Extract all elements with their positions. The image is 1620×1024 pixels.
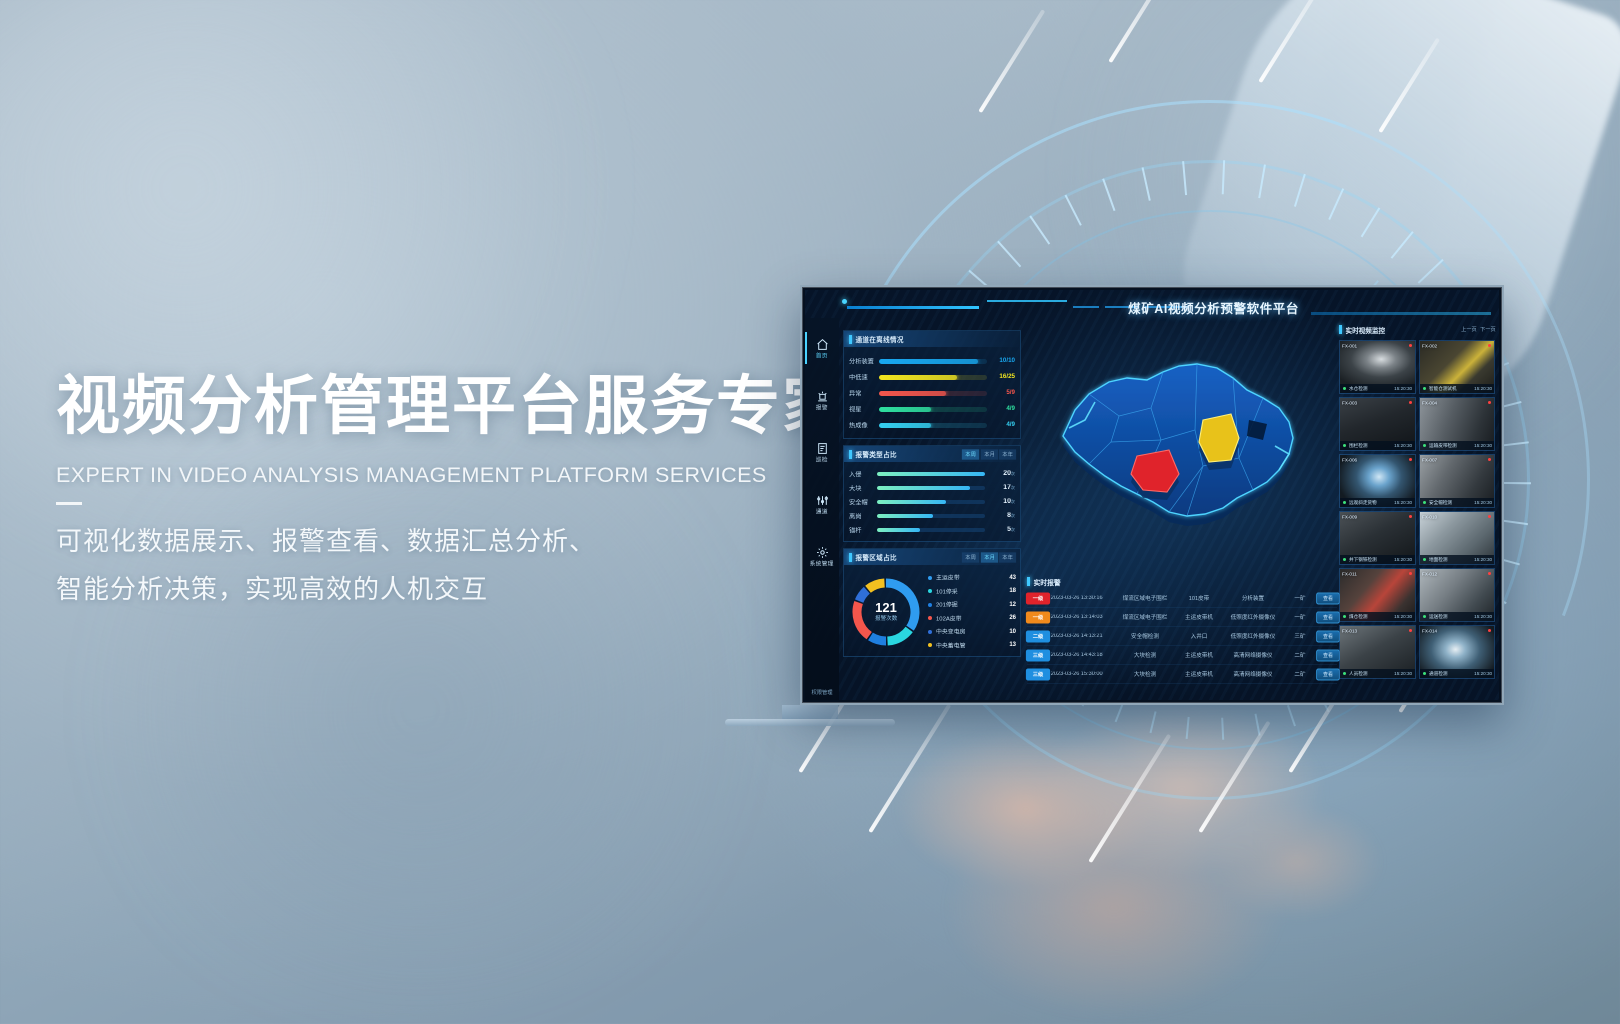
row-value: 20 bbox=[985, 471, 1010, 478]
panel-header: 通道在离线情况 bbox=[844, 331, 1020, 347]
video-tile[interactable]: FX-011煤仓检测15:20:30 bbox=[1339, 568, 1416, 622]
progress-fill bbox=[879, 359, 978, 364]
progress-fill bbox=[877, 486, 970, 491]
legend-color-dot bbox=[928, 589, 932, 593]
recording-indicator-icon bbox=[1409, 458, 1412, 461]
video-channel-name: 运送检测 bbox=[1429, 613, 1447, 620]
video-tile-footer: 人员检测15:20:30 bbox=[1340, 669, 1415, 678]
video-channel-name: 远观斜走货物 bbox=[1349, 499, 1377, 506]
status-badge: 二级 bbox=[1026, 630, 1050, 642]
video-tile[interactable]: FX-010地面检测15:20:30 bbox=[1419, 511, 1496, 565]
recording-indicator-icon bbox=[1409, 401, 1412, 404]
dashboard-monitor: 煤矿AI视频分析预警软件平台 首页 报警 巡检 bbox=[800, 285, 1504, 705]
time-range-tabs[interactable]: 本周本月本年 bbox=[963, 450, 1015, 459]
video-channel-name: 水仓检测 bbox=[1349, 385, 1367, 392]
video-tile-footer: 地面检测15:20:30 bbox=[1420, 555, 1495, 564]
row-unit: 次 bbox=[1011, 471, 1015, 477]
legend-item: 101停采18 bbox=[928, 585, 1016, 599]
cell-alarm-type: 安全帽检测 bbox=[1111, 632, 1179, 640]
video-timestamp: 15:20:30 bbox=[1394, 671, 1412, 677]
video-timestamp: 15:20:30 bbox=[1474, 386, 1492, 392]
cell-mine: 二矿 bbox=[1281, 651, 1320, 659]
video-tile-footer: 远观斜走货物15:20:30 bbox=[1340, 498, 1415, 507]
cell-alarm-type: 煤流区域电子围栏 bbox=[1111, 613, 1179, 621]
sidebar-item-label: 通道 bbox=[816, 508, 828, 516]
online-status-icon bbox=[1423, 501, 1426, 504]
video-channel-name: 通道检测 bbox=[1429, 670, 1447, 677]
alarm-type-row: 大块17次 bbox=[849, 481, 1015, 495]
recording-indicator-icon bbox=[1488, 401, 1491, 404]
sidebar-item-label: 系统管理 bbox=[810, 560, 834, 568]
video-tile[interactable]: FX-012运送检测15:20:30 bbox=[1419, 568, 1496, 622]
panel-title: 通道在离线情况 bbox=[856, 334, 904, 344]
sidebar-item-label: 报警 bbox=[816, 404, 828, 412]
row-label: 中低速 bbox=[849, 373, 880, 381]
video-channel-id: FX-011 bbox=[1342, 571, 1357, 577]
recording-indicator-icon bbox=[1488, 344, 1491, 347]
channel-status-row: 视星4/9 bbox=[849, 401, 1015, 417]
monitor-stand-base bbox=[725, 719, 895, 726]
time-range-tab[interactable]: 本年 bbox=[999, 449, 1016, 459]
donut-segment[interactable] bbox=[859, 590, 867, 601]
video-channel-id: FX-009 bbox=[1342, 514, 1357, 520]
header-line-left bbox=[847, 306, 979, 309]
monitor-stand-neck bbox=[782, 705, 838, 719]
sidebar-item-channel[interactable]: 通道 bbox=[805, 482, 839, 526]
donut-segment[interactable] bbox=[870, 636, 886, 641]
cell-alarm-type: 大块检测 bbox=[1111, 651, 1179, 659]
row-label: 安全帽 bbox=[849, 498, 878, 506]
video-tile-footer: 运输皮带检测15:20:30 bbox=[1420, 441, 1495, 450]
progress-fill bbox=[877, 514, 933, 519]
video-tile[interactable]: FX-003围栏检测15:20:30 bbox=[1339, 397, 1416, 451]
progress-track bbox=[877, 514, 985, 519]
cell-alarm-type: 煤流区域电子围栏 bbox=[1111, 594, 1179, 602]
video-channel-name: 井下钢铁检测 bbox=[1349, 556, 1377, 563]
row-value: 16/25 bbox=[986, 373, 1015, 380]
cell-time: 2023-03-26 15:30:00 bbox=[1051, 671, 1119, 677]
video-tile[interactable]: FX-013人员检测15:20:30 bbox=[1339, 625, 1416, 679]
status-badge: 一级 bbox=[1026, 592, 1050, 604]
hero-subtitle: EXPERT IN VIDEO ANALYSIS MANAGEMENT PLAT… bbox=[56, 463, 856, 488]
row-value: 5 bbox=[985, 527, 1010, 534]
cell-mine: 一矿 bbox=[1281, 594, 1320, 602]
row-value: 4/9 bbox=[986, 421, 1015, 428]
time-range-tab[interactable]: 本周 bbox=[962, 449, 979, 459]
row-value: 4/9 bbox=[986, 405, 1015, 412]
donut-chart: 121 报警次数 bbox=[848, 574, 924, 650]
progress-fill bbox=[877, 500, 946, 505]
monitor-stand bbox=[725, 705, 895, 726]
alarm-type-row: 锚杆5次 bbox=[849, 523, 1015, 537]
view-button[interactable]: 查看 bbox=[1316, 668, 1340, 680]
video-tile-footer: 煤仓检测15:20:30 bbox=[1340, 612, 1415, 621]
header-seg-1 bbox=[987, 300, 1067, 302]
video-channel-id: FX-014 bbox=[1422, 628, 1437, 634]
hero-copy: 视频分析管理平台服务专家 EXPERT IN VIDEO ANALYSIS MA… bbox=[56, 372, 856, 613]
video-channel-name: 运输皮带检测 bbox=[1429, 442, 1457, 449]
table-header: 实时报警 bbox=[1027, 574, 1337, 589]
row-value: 5/9 bbox=[986, 389, 1015, 396]
progress-fill bbox=[879, 375, 957, 380]
row-unit: 次 bbox=[1011, 527, 1015, 533]
view-button[interactable]: 查看 bbox=[1316, 630, 1340, 642]
progress-track bbox=[877, 472, 985, 477]
cell-mine: 三矿 bbox=[1281, 632, 1320, 640]
cell-device: 低照度红外摄像仪 bbox=[1219, 613, 1287, 621]
recording-indicator-icon bbox=[1488, 515, 1491, 518]
header-line-right bbox=[1311, 312, 1491, 315]
status-badge: 一级 bbox=[1026, 611, 1050, 623]
row-unit: 次 bbox=[1011, 485, 1015, 491]
header-accent-bar bbox=[849, 450, 852, 459]
table-title: 实时报警 bbox=[1034, 577, 1061, 587]
video-tile[interactable]: FX-001水仓检测15:20:30 bbox=[1339, 340, 1416, 394]
recording-indicator-icon bbox=[1409, 344, 1412, 347]
video-tile-footer: 通道检测15:20:30 bbox=[1420, 669, 1495, 678]
online-status-icon bbox=[1423, 444, 1426, 447]
video-timestamp: 15:20:30 bbox=[1474, 614, 1492, 620]
legend-color-dot bbox=[928, 603, 932, 607]
online-status-icon bbox=[1343, 672, 1346, 675]
table-row[interactable]: 三级2023-03-26 15:30:00大块检测主运皮带机高清网络摄像仪二矿未… bbox=[1027, 665, 1337, 684]
channel-icon bbox=[816, 494, 829, 507]
video-timestamp: 15:20:30 bbox=[1474, 557, 1492, 563]
online-status-icon bbox=[1423, 387, 1426, 390]
progress-fill bbox=[877, 472, 985, 477]
video-tile[interactable]: FX-009井下钢铁检测15:20:30 bbox=[1339, 511, 1416, 565]
video-tile-grid: FX-001水仓检测15:20:30FX-002智能仓测试机15:20:30FX… bbox=[1339, 340, 1495, 679]
hero-desc-line-2: 智能分析决策，实现高效的人机交互 bbox=[56, 565, 856, 613]
alarm-type-rows: 入侵20次大块17次安全帽10次离岗8次锚杆5次 bbox=[844, 462, 1020, 541]
header-dot bbox=[842, 299, 847, 304]
video-channel-id: FX-012 bbox=[1422, 571, 1437, 577]
cell-device: 分析装置 bbox=[1219, 594, 1287, 602]
online-status-icon bbox=[1423, 615, 1426, 618]
alarm-type-row: 入侵20次 bbox=[849, 467, 1015, 481]
panel-header: 报警类型占比 本周本月本年 bbox=[844, 446, 1020, 462]
panel-title: 报警类型占比 bbox=[856, 449, 897, 459]
online-status-icon bbox=[1343, 444, 1346, 447]
video-tile[interactable]: FX-004运输皮带检测15:20:30 bbox=[1419, 397, 1496, 451]
channel-status-row: 热成像4/9 bbox=[849, 417, 1015, 433]
video-tile-footer: 围栏检测15:20:30 bbox=[1340, 441, 1415, 450]
row-label: 大块 bbox=[849, 484, 878, 492]
panel-title: 报警区域占比 bbox=[856, 552, 897, 562]
online-status-icon bbox=[1343, 615, 1346, 618]
time-range-tab[interactable]: 本月 bbox=[980, 552, 997, 562]
donut-legend: 主运皮带43101停采18201停掘12102A皮带26中央变电房10中央蓄电管… bbox=[924, 571, 1016, 652]
progress-track bbox=[877, 528, 985, 533]
online-status-icon bbox=[1343, 501, 1346, 504]
row-value: 8 bbox=[985, 513, 1010, 520]
online-status-icon bbox=[1343, 387, 1346, 390]
view-button[interactable]: 查看 bbox=[1316, 649, 1340, 661]
video-panel-title: 实时视频监控 bbox=[1346, 325, 1386, 335]
sidebar-item-home[interactable]: 首页 bbox=[805, 326, 839, 370]
online-status-icon bbox=[1423, 558, 1426, 561]
legend-item: 主运皮带43 bbox=[928, 571, 1016, 585]
legend-item: 102A皮带26 bbox=[928, 612, 1016, 626]
legend-label: 101停采 bbox=[936, 587, 1023, 595]
pagination-button[interactable]: 上一页 bbox=[1462, 326, 1477, 333]
video-tile-footer: 智能仓测试机15:20:30 bbox=[1420, 384, 1495, 393]
legend-color-dot bbox=[928, 643, 932, 647]
alarm-area-chart-wrap: 121 报警次数 主运皮带43101停采18201停掘12102A皮带26中央变… bbox=[844, 565, 1020, 656]
dashboard-screen: 煤矿AI视频分析预警软件平台 首页 报警 巡检 bbox=[805, 290, 1499, 700]
recording-indicator-icon bbox=[1488, 572, 1491, 575]
online-status-icon bbox=[1423, 672, 1426, 675]
row-value: 17 bbox=[985, 485, 1010, 492]
sidebar-item-inspection[interactable]: 巡检 bbox=[805, 430, 839, 474]
clipboard-icon bbox=[816, 442, 829, 455]
video-channel-id: FX-010 bbox=[1422, 514, 1437, 520]
alarm-area-panel: 报警区域占比 本周本月本年 121 报警次数 主运皮带43101停采18201停… bbox=[843, 548, 1021, 657]
video-tile-footer: 井下钢铁检测15:20:30 bbox=[1340, 555, 1415, 564]
page-title: 视频分析管理平台服务专家 bbox=[56, 372, 856, 441]
pagination-button[interactable]: 下一页 bbox=[1480, 326, 1495, 333]
sidebar-item-label: 首页 bbox=[816, 352, 828, 360]
cell-device: 低照度红外摄像仪 bbox=[1219, 632, 1287, 640]
donut-segment[interactable] bbox=[868, 583, 884, 589]
progress-track bbox=[879, 359, 987, 364]
time-range-tab[interactable]: 本周 bbox=[962, 552, 979, 562]
sidebar-item-alarm[interactable]: 报警 bbox=[805, 378, 839, 422]
progress-track bbox=[879, 407, 987, 412]
progress-fill bbox=[877, 528, 920, 533]
cell-device: 高清网络摄像仪 bbox=[1219, 670, 1287, 678]
recording-indicator-icon bbox=[1409, 515, 1412, 518]
video-tile[interactable]: FX-002智能仓测试机15:20:30 bbox=[1419, 340, 1496, 394]
cell-time: 2023-03-26 13:14:03 bbox=[1051, 614, 1119, 620]
row-label: 分析装置 bbox=[849, 357, 880, 365]
sidebar-item-label: 巡检 bbox=[816, 456, 828, 464]
legend-label: 中央变电房 bbox=[936, 628, 1023, 636]
alarm-icon bbox=[816, 390, 829, 403]
dashboard-title: 煤矿AI视频分析预警软件平台 bbox=[1128, 298, 1299, 317]
table-row[interactable]: 二级2023-03-26 14:13:21安全帽检测入井口低照度红外摄像仪三矿未… bbox=[1027, 627, 1337, 646]
cell-alarm-type: 大块检测 bbox=[1111, 670, 1179, 678]
video-channel-name: 安全帽检测 bbox=[1429, 499, 1452, 506]
alarm-type-row: 安全帽10次 bbox=[849, 495, 1015, 509]
video-tile[interactable]: FX-014通道检测15:20:30 bbox=[1419, 625, 1496, 679]
row-unit: 次 bbox=[1011, 499, 1015, 505]
progress-track bbox=[879, 423, 987, 428]
progress-track bbox=[877, 500, 985, 505]
donut-center-value: 121 bbox=[875, 601, 897, 614]
header-accent-bar bbox=[1027, 577, 1030, 586]
recording-indicator-icon bbox=[1409, 572, 1412, 575]
video-channel-name: 人员检测 bbox=[1349, 670, 1367, 677]
video-tile[interactable]: FX-006远观斜走货物15:20:30 bbox=[1339, 454, 1416, 508]
video-timestamp: 15:20:30 bbox=[1474, 671, 1492, 677]
cell-mine: 二矿 bbox=[1281, 670, 1320, 678]
channel-status-rows: 分析装置10/10中低速16/25异常5/9视星4/9热成像4/9 bbox=[844, 347, 1020, 438]
video-channel-id: FX-003 bbox=[1342, 400, 1357, 406]
header-accent-bar bbox=[849, 335, 852, 344]
channel-status-row: 中低速16/25 bbox=[849, 369, 1015, 385]
legend-color-dot bbox=[928, 576, 932, 580]
left-panel-column: 通道在离线情况 分析装置10/10中低速16/25异常5/9视星4/9热成像4/… bbox=[843, 330, 1021, 692]
table-row[interactable]: 一级2023-03-26 13:14:03煤流区域电子围栏主运皮带机低照度红外摄… bbox=[1027, 608, 1337, 627]
progress-fill bbox=[879, 391, 946, 396]
row-label: 锚杆 bbox=[849, 526, 878, 534]
dashboard-header: 煤矿AI视频分析预警软件平台 bbox=[805, 290, 1499, 326]
row-label: 离岗 bbox=[849, 512, 878, 520]
legend-label: 102A皮带 bbox=[936, 614, 1023, 622]
sidebar-footer-label: 权限管理 bbox=[805, 689, 842, 696]
status-badge: 三级 bbox=[1026, 668, 1050, 680]
progress-fill bbox=[879, 423, 931, 428]
row-unit: 次 bbox=[1011, 513, 1015, 519]
video-panel-header: 实时视频监控 上一页下一页 bbox=[1339, 322, 1495, 337]
legend-item: 201停掘12 bbox=[928, 598, 1016, 612]
channel-status-row: 分析装置10/10 bbox=[849, 353, 1015, 369]
progress-track bbox=[879, 375, 987, 380]
recording-indicator-icon bbox=[1488, 458, 1491, 461]
video-timestamp: 15:20:30 bbox=[1394, 500, 1412, 506]
progress-track bbox=[877, 486, 985, 491]
bg-hand-palm bbox=[880, 690, 1400, 1020]
time-range-tab[interactable]: 本月 bbox=[980, 449, 997, 459]
header-accent-bar bbox=[1339, 325, 1342, 334]
video-tile-footer: 安全帽检测15:20:30 bbox=[1420, 498, 1495, 507]
cell-time: 2023-03-26 14:43:18 bbox=[1051, 652, 1119, 658]
row-label: 热成像 bbox=[849, 421, 880, 429]
cell-time: 2023-03-26 14:13:21 bbox=[1051, 633, 1119, 639]
sidebar-item-system-management[interactable]: 系统管理 bbox=[805, 534, 839, 578]
video-channel-name: 地面检测 bbox=[1429, 556, 1447, 563]
legend-color-dot bbox=[928, 616, 932, 620]
video-timestamp: 15:20:30 bbox=[1394, 443, 1412, 449]
progress-fill bbox=[879, 407, 931, 412]
legend-item: 中央蓄电管13 bbox=[928, 639, 1016, 653]
status-badge: 三级 bbox=[1026, 649, 1050, 661]
video-pagination[interactable]: 上一页下一页 bbox=[1462, 327, 1495, 333]
legend-label: 中央蓄电管 bbox=[936, 641, 1023, 649]
header-accent-bar bbox=[849, 553, 852, 562]
recording-indicator-icon bbox=[1409, 629, 1412, 632]
video-channel-name: 煤仓检测 bbox=[1349, 613, 1367, 620]
cell-mine: 一矿 bbox=[1281, 613, 1320, 621]
home-icon bbox=[816, 338, 829, 351]
video-timestamp: 15:20:30 bbox=[1394, 386, 1412, 392]
video-channel-id: FX-004 bbox=[1422, 400, 1437, 406]
row-value: 10/10 bbox=[986, 357, 1015, 364]
hero-desc-line-1: 可视化数据展示、报警查看、数据汇总分析、 bbox=[56, 517, 856, 565]
cell-time: 2023-03-26 13:30:16 bbox=[1051, 595, 1119, 601]
video-channel-name: 围栏检测 bbox=[1349, 442, 1367, 449]
row-label: 视星 bbox=[849, 405, 880, 413]
video-tile-footer: 运送检测15:20:30 bbox=[1420, 612, 1495, 621]
legend-item: 中央变电房10 bbox=[928, 625, 1016, 639]
view-button[interactable]: 查看 bbox=[1316, 611, 1340, 623]
video-channel-id: FX-002 bbox=[1422, 343, 1437, 349]
video-timestamp: 15:20:30 bbox=[1394, 557, 1412, 563]
video-channel-name: 智能仓测试机 bbox=[1429, 385, 1457, 392]
realtime-alarm-table: 实时报警 一级2023-03-26 13:30:16煤流区域电子围栏101皮带分… bbox=[1027, 574, 1337, 694]
video-timestamp: 15:20:30 bbox=[1474, 500, 1492, 506]
divider bbox=[56, 502, 82, 505]
channel-status-row: 异常5/9 bbox=[849, 385, 1015, 401]
legend-label: 201停掘 bbox=[936, 601, 1023, 609]
cell-device: 高清网络摄像仪 bbox=[1219, 651, 1287, 659]
legend-color-dot bbox=[928, 630, 932, 634]
video-channel-id: FX-001 bbox=[1342, 343, 1357, 349]
alarm-type-panel: 报警类型占比 本周本月本年 入侵20次大块17次安全帽10次离岗8次锚杆5次 bbox=[843, 445, 1021, 542]
alarm-table-body: 一级2023-03-26 13:30:16煤流区域电子围栏101皮带分析装置一矿… bbox=[1027, 589, 1337, 684]
video-channel-id: FX-013 bbox=[1342, 628, 1357, 634]
time-range-tab[interactable]: 本年 bbox=[999, 552, 1016, 562]
channel-status-panel: 通道在离线情况 分析装置10/10中低速16/25异常5/9视星4/9热成像4/… bbox=[843, 330, 1021, 439]
video-channel-id: FX-007 bbox=[1422, 457, 1437, 463]
legend-label: 主运皮带 bbox=[936, 574, 1023, 582]
view-button[interactable]: 查看 bbox=[1316, 592, 1340, 604]
row-value: 10 bbox=[985, 499, 1010, 506]
online-status-icon bbox=[1343, 558, 1346, 561]
panel-header: 报警区域占比 本周本月本年 bbox=[844, 549, 1020, 565]
gear-icon bbox=[816, 546, 829, 559]
alarm-type-row: 离岗8次 bbox=[849, 509, 1015, 523]
video-timestamp: 15:20:30 bbox=[1474, 443, 1492, 449]
video-tile[interactable]: FX-007安全帽检测15:20:30 bbox=[1419, 454, 1496, 508]
row-label: 异常 bbox=[849, 389, 880, 397]
video-tile-footer: 水仓检测15:20:30 bbox=[1340, 384, 1415, 393]
video-timestamp: 15:20:30 bbox=[1394, 614, 1412, 620]
china-province-map[interactable] bbox=[1027, 324, 1337, 574]
recording-indicator-icon bbox=[1488, 629, 1491, 632]
row-label: 入侵 bbox=[849, 470, 878, 478]
video-monitor-panel: 实时视频监控 上一页下一页 FX-001水仓检测15:20:30FX-002智能… bbox=[1339, 322, 1495, 694]
table-row[interactable]: 三级2023-03-26 14:43:18大块检测主运皮带机高清网络摄像仪二矿未… bbox=[1027, 646, 1337, 665]
progress-track bbox=[879, 391, 987, 396]
donut-center: 121 报警次数 bbox=[864, 590, 908, 634]
table-row[interactable]: 一级2023-03-26 13:30:16煤流区域电子围栏101皮带分析装置一矿… bbox=[1027, 589, 1337, 608]
video-channel-id: FX-006 bbox=[1342, 457, 1357, 463]
time-range-tabs[interactable]: 本周本月本年 bbox=[963, 553, 1015, 562]
donut-center-label: 报警次数 bbox=[875, 615, 897, 622]
header-seg-2 bbox=[1073, 306, 1099, 308]
sidebar: 首页 报警 巡检 通道 bbox=[805, 318, 839, 700]
